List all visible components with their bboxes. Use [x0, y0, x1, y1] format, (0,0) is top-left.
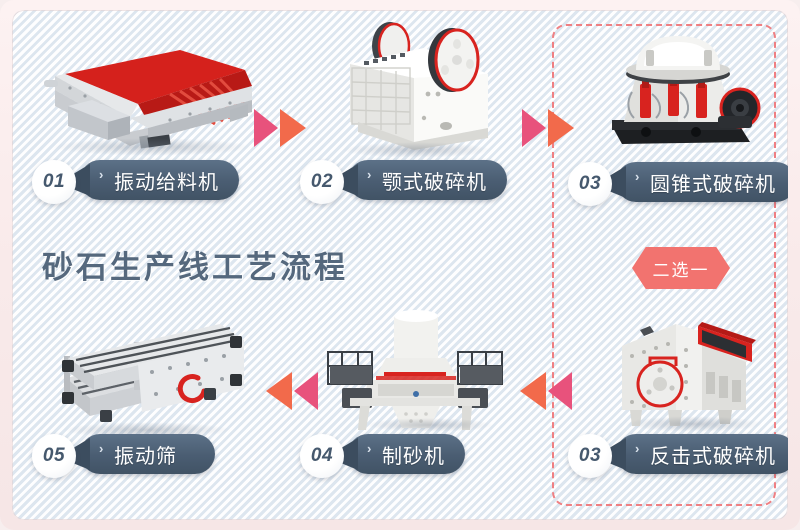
step-label-03-cone-text: 圆锥式破碎机 — [650, 168, 776, 197]
chevron-icon-04: › — [367, 442, 371, 455]
step-label-05[interactable]: › 振动筛 — [80, 434, 215, 474]
machine-impact-crusher — [606, 310, 772, 428]
arrow-jaw-to-cone — [520, 105, 582, 151]
step-number-03-cone: 03 — [568, 162, 612, 206]
step-label-02-text: 颚式破碎机 — [382, 166, 487, 195]
machine-sand-making-machine — [316, 310, 512, 432]
arrow-sand-to-screen — [262, 368, 324, 414]
flow-diagram-stage: 01 › 振动给料机 — [0, 0, 800, 530]
step-label-03-cone[interactable]: › 圆锥式破碎机 — [616, 162, 788, 202]
machine-jaw-crusher — [328, 18, 508, 150]
chevron-icon-02: › — [367, 168, 371, 181]
arrow-feeder-to-jaw — [252, 105, 314, 151]
step-label-03-impact[interactable]: › 反击式破碎机 — [616, 434, 788, 474]
machine-vibrating-screen — [38, 316, 260, 434]
chevron-icon-01: › — [99, 168, 103, 181]
step-label-04-text: 制砂机 — [382, 440, 445, 469]
step-number-01: 01 — [32, 160, 76, 204]
chevron-icon-03-cone: › — [635, 170, 639, 183]
step-number-02-text: 02 — [311, 171, 333, 193]
machine-cone-crusher — [600, 22, 770, 157]
feeder-shadow — [52, 138, 252, 156]
step-number-05: 05 — [32, 434, 76, 478]
machine-vibrating-feeder — [30, 28, 260, 153]
arrow-impact-to-sand — [516, 368, 578, 414]
sand-maker-shadow — [364, 418, 494, 432]
choice-badge-text: 二选一 — [653, 256, 710, 281]
step-number-02: 02 — [300, 160, 344, 204]
jaw-shadow — [342, 142, 492, 158]
step-label-05-text: 振动筛 — [114, 440, 177, 469]
step-label-01-text: 振动给料机 — [114, 166, 219, 195]
step-label-04[interactable]: › 制砂机 — [348, 434, 465, 474]
step-label-02[interactable]: › 颚式破碎机 — [348, 160, 507, 200]
page-title: 砂石生产线工艺流程 — [42, 242, 348, 287]
step-label-01[interactable]: › 振动给料机 — [80, 160, 239, 200]
diagram-panel: 01 › 振动给料机 — [12, 10, 788, 520]
step-number-04: 04 — [300, 434, 344, 478]
impact-shadow — [624, 416, 764, 432]
step-number-03-impact-text: 03 — [579, 445, 601, 467]
step-number-05-text: 05 — [43, 445, 65, 467]
chevron-icon-03-impact: › — [635, 442, 639, 455]
step-number-03-impact: 03 — [568, 434, 612, 478]
choice-badge: 二选一 — [632, 247, 730, 289]
chevron-icon-05: › — [99, 442, 103, 455]
step-number-04-text: 04 — [311, 445, 333, 467]
step-number-01-text: 01 — [43, 171, 65, 193]
step-number-03-cone-text: 03 — [579, 173, 601, 195]
step-label-03-impact-text: 反击式破碎机 — [650, 440, 776, 469]
